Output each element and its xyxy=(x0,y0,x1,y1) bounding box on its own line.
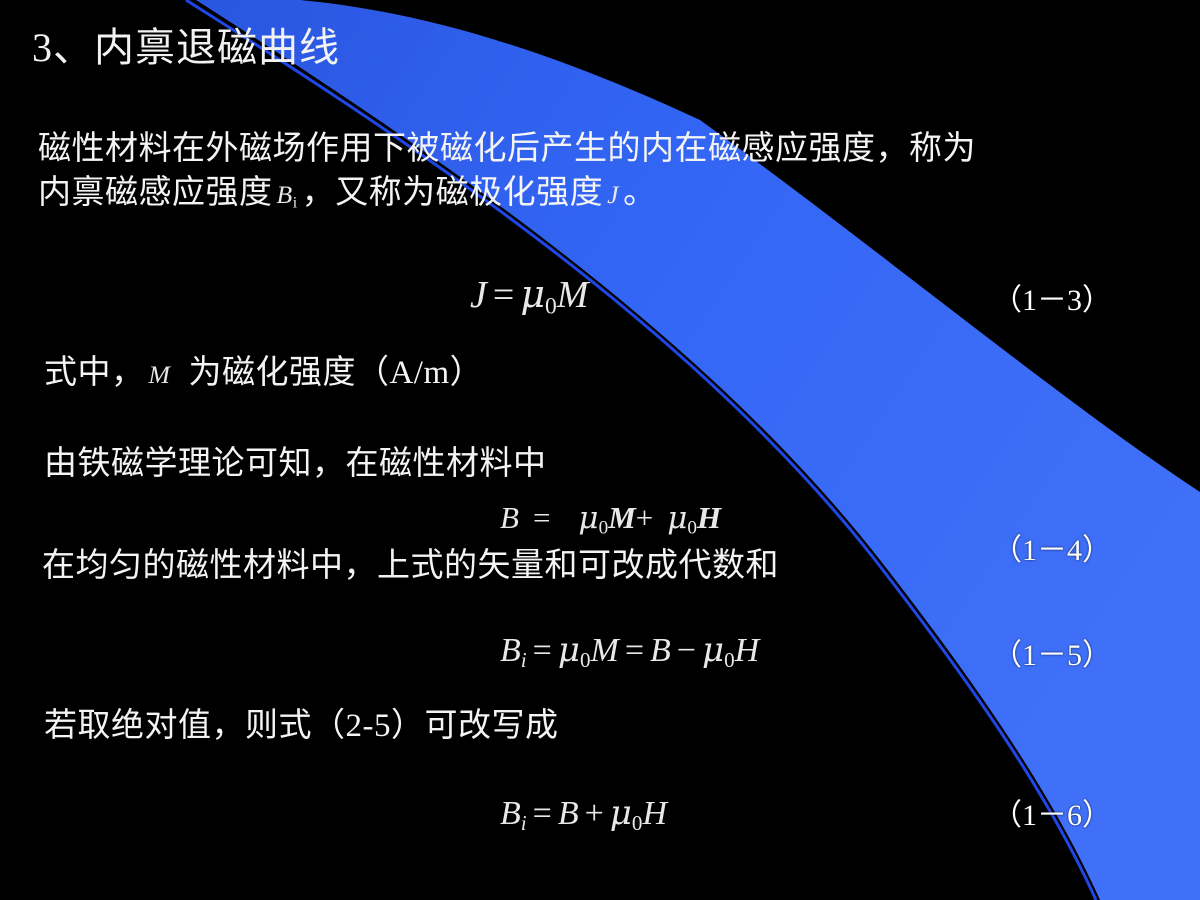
text-segment: 式中， xyxy=(44,355,145,391)
paragraph-definition-line2: 内禀磁感应强度Bi，又称为磁极化强度J。 xyxy=(38,172,976,216)
eq2-mu2: μ xyxy=(667,500,687,536)
eq4-b: B xyxy=(558,795,579,832)
eq2-lhs: B xyxy=(500,500,519,535)
text-segment: 。 xyxy=(623,175,657,211)
equation-number-1-6: （1－6） xyxy=(992,790,1112,834)
eq4-mu: μ xyxy=(610,793,632,833)
paragraph-where-m: 式中，M为磁化强度（A/m） xyxy=(44,352,483,396)
paragraph-absolute-value: 若取绝对值，则式（2-5）可改写成 xyxy=(44,705,559,749)
eq4-equals: = xyxy=(527,795,558,832)
text-segment: 内禀磁感应强度 xyxy=(38,175,273,211)
eq1-rhs: M xyxy=(557,274,589,316)
text-segment: 为磁化强度（A/m） xyxy=(188,355,483,391)
eq4-h: H xyxy=(642,795,667,832)
equation-number-1-3: （1－3） xyxy=(992,275,1112,319)
eq1-equals: = xyxy=(487,274,520,316)
symbol-bi: Bi xyxy=(273,180,302,209)
eq2-plus: + xyxy=(636,500,653,535)
eq2-mu-sub: 0 xyxy=(599,517,609,538)
paragraph-definition-line1: 磁性材料在外磁场作用下被磁化后产生的内在磁感应强度，称为 xyxy=(38,128,976,172)
eq3-h: H xyxy=(735,632,760,669)
eq2-equals: = xyxy=(533,500,550,535)
eq3-equals-2: = xyxy=(619,632,650,669)
eq4-lhs: B xyxy=(500,795,521,832)
eq3-equals-1: = xyxy=(527,632,558,669)
eq3-mu2-sub: 0 xyxy=(724,648,735,672)
paragraph-uniform-material: 在均匀的磁性材料中，上式的矢量和可改成代数和 xyxy=(42,545,779,589)
equation-1-4: B=μ0M+μ0H xyxy=(500,500,721,539)
eq3-b: B xyxy=(650,632,671,669)
slide-canvas: 3、内禀退磁曲线 磁性材料在外磁场作用下被磁化后产生的内在磁感应强度，称为 内禀… xyxy=(0,0,1200,900)
symbol-m: M xyxy=(145,360,175,389)
eq3-mu-sub: 0 xyxy=(580,648,591,672)
eq2-mu2-sub: 0 xyxy=(687,517,697,538)
eq4-plus: + xyxy=(579,795,610,832)
eq1-lhs: J xyxy=(470,274,487,316)
eq3-mu: μ xyxy=(558,630,580,670)
equation-1-6: Bi=B+μ0H xyxy=(500,793,667,836)
paragraph-ferromagnetic-theory: 由铁磁学理论可知，在磁性材料中 xyxy=(44,443,547,487)
symbol-j: J xyxy=(603,180,623,209)
slide-title: 3、内禀退磁曲线 xyxy=(32,26,340,70)
equation-number-1-5: （1－5） xyxy=(992,630,1112,674)
eq2-mu: μ xyxy=(578,500,598,536)
eq4-lhs-sub: i xyxy=(521,811,527,835)
eq3-mu2: μ xyxy=(702,630,724,670)
eq2-vector-m: M xyxy=(608,500,636,535)
text-segment: ，又称为磁极化强度 xyxy=(302,175,604,211)
eq4-mu-sub: 0 xyxy=(632,811,643,835)
equation-1-5: Bi=μ0M=B−μ0H xyxy=(500,630,759,673)
eq2-vector-h: H xyxy=(697,500,721,535)
paragraph-definition: 磁性材料在外磁场作用下被磁化后产生的内在磁感应强度，称为 内禀磁感应强度Bi，又… xyxy=(38,128,976,215)
eq1-mu: μ xyxy=(520,272,545,316)
eq3-lhs-sub: i xyxy=(521,648,527,672)
equation-1-3: J=μ0M xyxy=(470,272,588,321)
eq3-minus: − xyxy=(671,632,702,669)
eq3-lhs: B xyxy=(500,632,521,669)
eq3-m: M xyxy=(590,632,618,669)
eq1-mu-sub: 0 xyxy=(545,294,557,320)
equation-number-1-4: （1－4） xyxy=(992,525,1112,569)
